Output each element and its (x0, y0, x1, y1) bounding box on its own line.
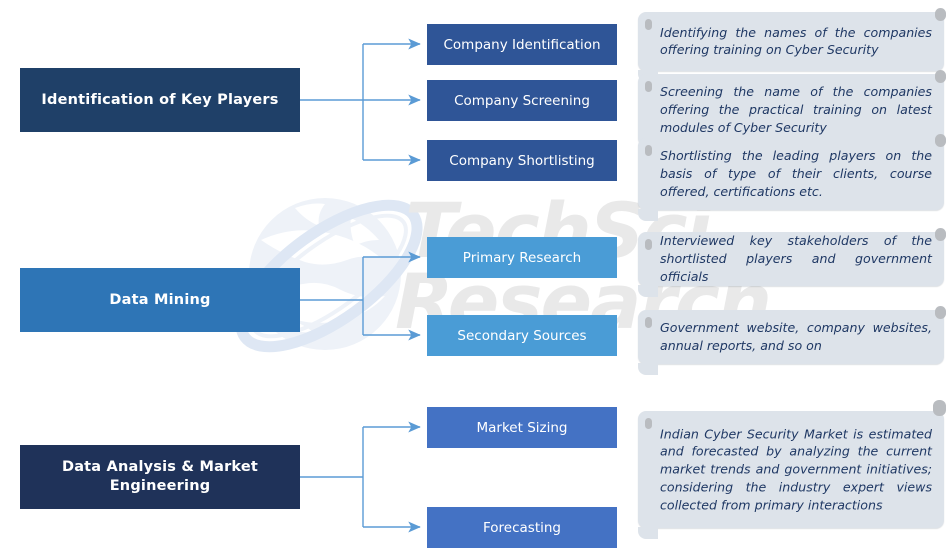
pin-dot-icon (645, 239, 652, 250)
step-label: Market Sizing (477, 420, 568, 436)
step-box-company-shortlisting[interactable]: Company Shortlisting (427, 140, 617, 181)
panel-tail (638, 285, 658, 297)
step-label: Secondary Sources (457, 328, 586, 344)
description-text: Screening the name of the companies offe… (660, 83, 932, 137)
pin-dot-icon (935, 306, 946, 319)
description-panel-company-screening: Screening the name of the companies offe… (638, 74, 944, 146)
description-text: Indian Cyber Security Market is estimate… (660, 425, 932, 514)
description-panel-company-identification: Identifying the names of the companies o… (638, 12, 944, 71)
description-text: Interviewed key stakeholders of the shor… (660, 232, 932, 286)
methodology-diagram-canvas: TechSci Research (0, 0, 952, 557)
description-text: Government website, company websites, an… (660, 319, 932, 355)
pin-dot-icon (645, 19, 652, 30)
step-label: Company Identification (443, 37, 600, 53)
stage-label: Data Analysis & Market Engineering (30, 458, 290, 495)
step-label: Forecasting (483, 520, 561, 536)
description-panel-primary-research: Interviewed key stakeholders of the shor… (638, 232, 944, 286)
pin-dot-icon (935, 8, 946, 21)
step-box-company-screening[interactable]: Company Screening (427, 80, 617, 121)
pin-dot-icon (935, 70, 946, 83)
step-box-forecasting[interactable]: Forecasting (427, 507, 617, 548)
step-box-primary-research[interactable]: Primary Research (427, 237, 617, 278)
description-panel-data-analysis: Indian Cyber Security Market is estimate… (638, 411, 944, 528)
stage-box-data-mining[interactable]: Data Mining (20, 268, 300, 332)
panel-tail (638, 209, 658, 221)
description-text: Identifying the names of the companies o… (660, 24, 932, 60)
step-label: Company Screening (454, 93, 590, 109)
description-panel-secondary-sources: Government website, company websites, an… (638, 310, 944, 364)
pin-dot-icon (645, 317, 652, 328)
step-box-market-sizing[interactable]: Market Sizing (427, 407, 617, 448)
pin-dot-icon (935, 228, 946, 241)
pin-dot-icon (935, 134, 946, 147)
pin-dot-icon (645, 418, 652, 429)
step-box-company-identification[interactable]: Company Identification (427, 24, 617, 65)
pin-dot-icon (933, 400, 946, 416)
connector-group-data-analysis (300, 427, 420, 527)
panel-tail (638, 527, 658, 539)
stage-box-data-analysis-and-market-engineering[interactable]: Data Analysis & Market Engineering (20, 445, 300, 509)
description-panel-company-shortlisting: Shortlisting the leading players on the … (638, 138, 944, 210)
stage-box-identification-of-key-players[interactable]: Identification of Key Players (20, 68, 300, 132)
pin-dot-icon (645, 81, 652, 92)
stage-label: Identification of Key Players (41, 91, 278, 110)
connector-group-identification (300, 44, 420, 160)
step-label: Company Shortlisting (449, 153, 594, 169)
description-text: Shortlisting the leading players on the … (660, 147, 932, 201)
pin-dot-icon (645, 145, 652, 156)
step-label: Primary Research (463, 250, 581, 266)
panel-tail (638, 363, 658, 375)
stage-label: Data Mining (109, 291, 210, 310)
step-box-secondary-sources[interactable]: Secondary Sources (427, 315, 617, 356)
connector-group-data-mining (300, 257, 420, 335)
